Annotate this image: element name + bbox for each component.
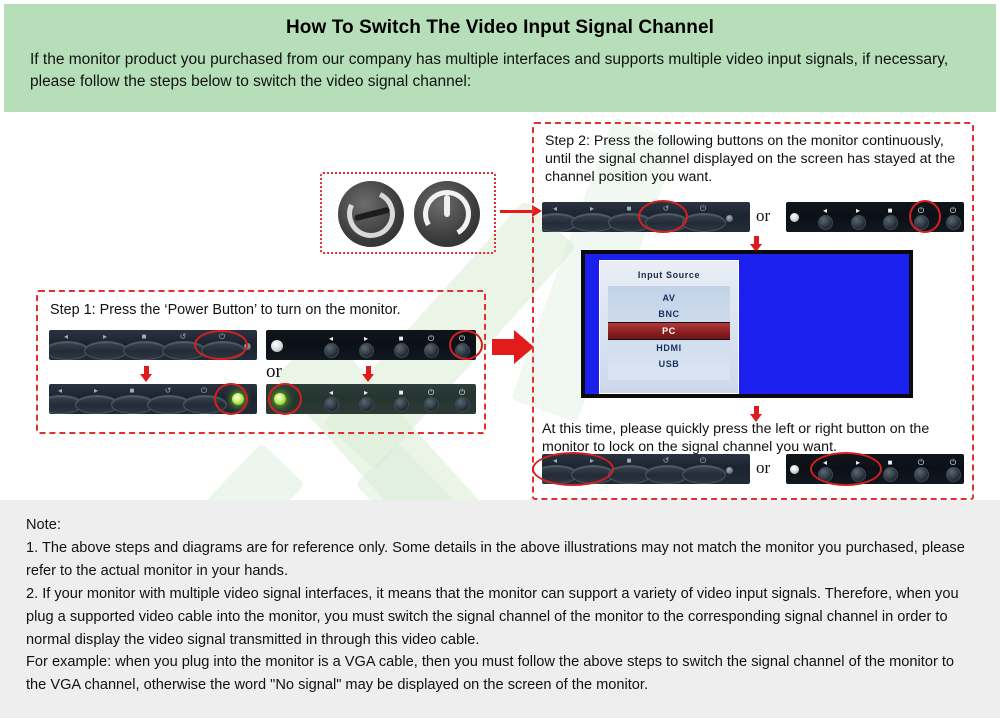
step2-tail-text: At this time, please quickly press the l… [534,420,988,456]
diagram-stage: Step 1: Press the ‘Power Button’ to turn… [0,112,1000,500]
osd-monitor-screenshot: Input Source AV BNC PC HDMI USB [581,250,913,398]
header-intro-text: If the monitor product you purchased fro… [30,49,972,94]
power-button-closeup-a-icon [338,181,404,247]
power-button-closeup-b-icon [414,181,480,247]
step2-or-label-bottom: or [756,458,770,478]
step1-round-button-bar-off[interactable]: ◂ ▸ ■ ⏻ ⏻ [266,330,476,360]
note-line-3: For example: when you plug into the moni… [26,651,974,697]
osd-blue-screen: Input Source AV BNC PC HDMI USB [585,254,909,394]
step1-round-button-bar-on[interactable]: ◂ ▸ ■ ⏻ ⏻ [266,384,476,414]
step1-oval-button-bar-on[interactable]: ◂ ▸ ■ ↺ ⏻ [49,384,257,414]
osd-menu-item-usb[interactable]: USB [608,356,730,372]
osd-menu-item-hdmi[interactable]: HDMI [608,340,730,356]
osd-input-source-menu: Input Source AV BNC PC HDMI USB [599,260,739,394]
step2-panel: Step 2: Press the following buttons on t… [532,122,974,500]
osd-menu-title: Input Source [600,261,738,286]
step2-oval-button-bar-top[interactable]: ◂ ▸ ■ ↺ ⏻ [542,202,750,232]
power-button-photo-group [320,172,496,254]
step2-oval-button-bar-bottom[interactable]: ◂ ▸ ■ ↺ ⏻ [542,454,750,484]
osd-menu-item-pc[interactable]: PC [608,322,730,340]
note-section: Note: 1. The above steps and diagrams ar… [0,500,1000,718]
step1-oval-button-bar-off[interactable]: ◂ ▸ ■ ↺ ⏻ [49,330,257,360]
step1-or-label: or [266,361,282,383]
step2-round-button-bar-bottom[interactable]: ◂ ▸ ■ ⏻ ⏻ [786,454,964,484]
step2-round-button-bar-top[interactable]: ◂ ▸ ■ ⏻ ⏻ [786,202,964,232]
note-line-1: 1. The above steps and diagrams are for … [26,537,974,583]
step1-panel: Step 1: Press the ‘Power Button’ to turn… [36,290,486,434]
note-heading: Note: [26,514,974,537]
step2-or-label-top: or [756,206,770,226]
note-line-2: 2. If your monitor with multiple video s… [26,583,974,652]
page-title: How To Switch The Video Input Signal Cha… [4,17,996,39]
osd-menu-item-av[interactable]: AV [608,290,730,306]
step2-lead-text: Step 2: Press the following buttons on t… [534,124,972,187]
step1-text: Step 1: Press the ‘Power Button’ to turn… [38,292,484,319]
osd-menu-item-bnc[interactable]: BNC [608,306,730,322]
header-banner: How To Switch The Video Input Signal Cha… [4,4,996,112]
osd-menu-list: AV BNC PC HDMI USB [608,286,730,380]
